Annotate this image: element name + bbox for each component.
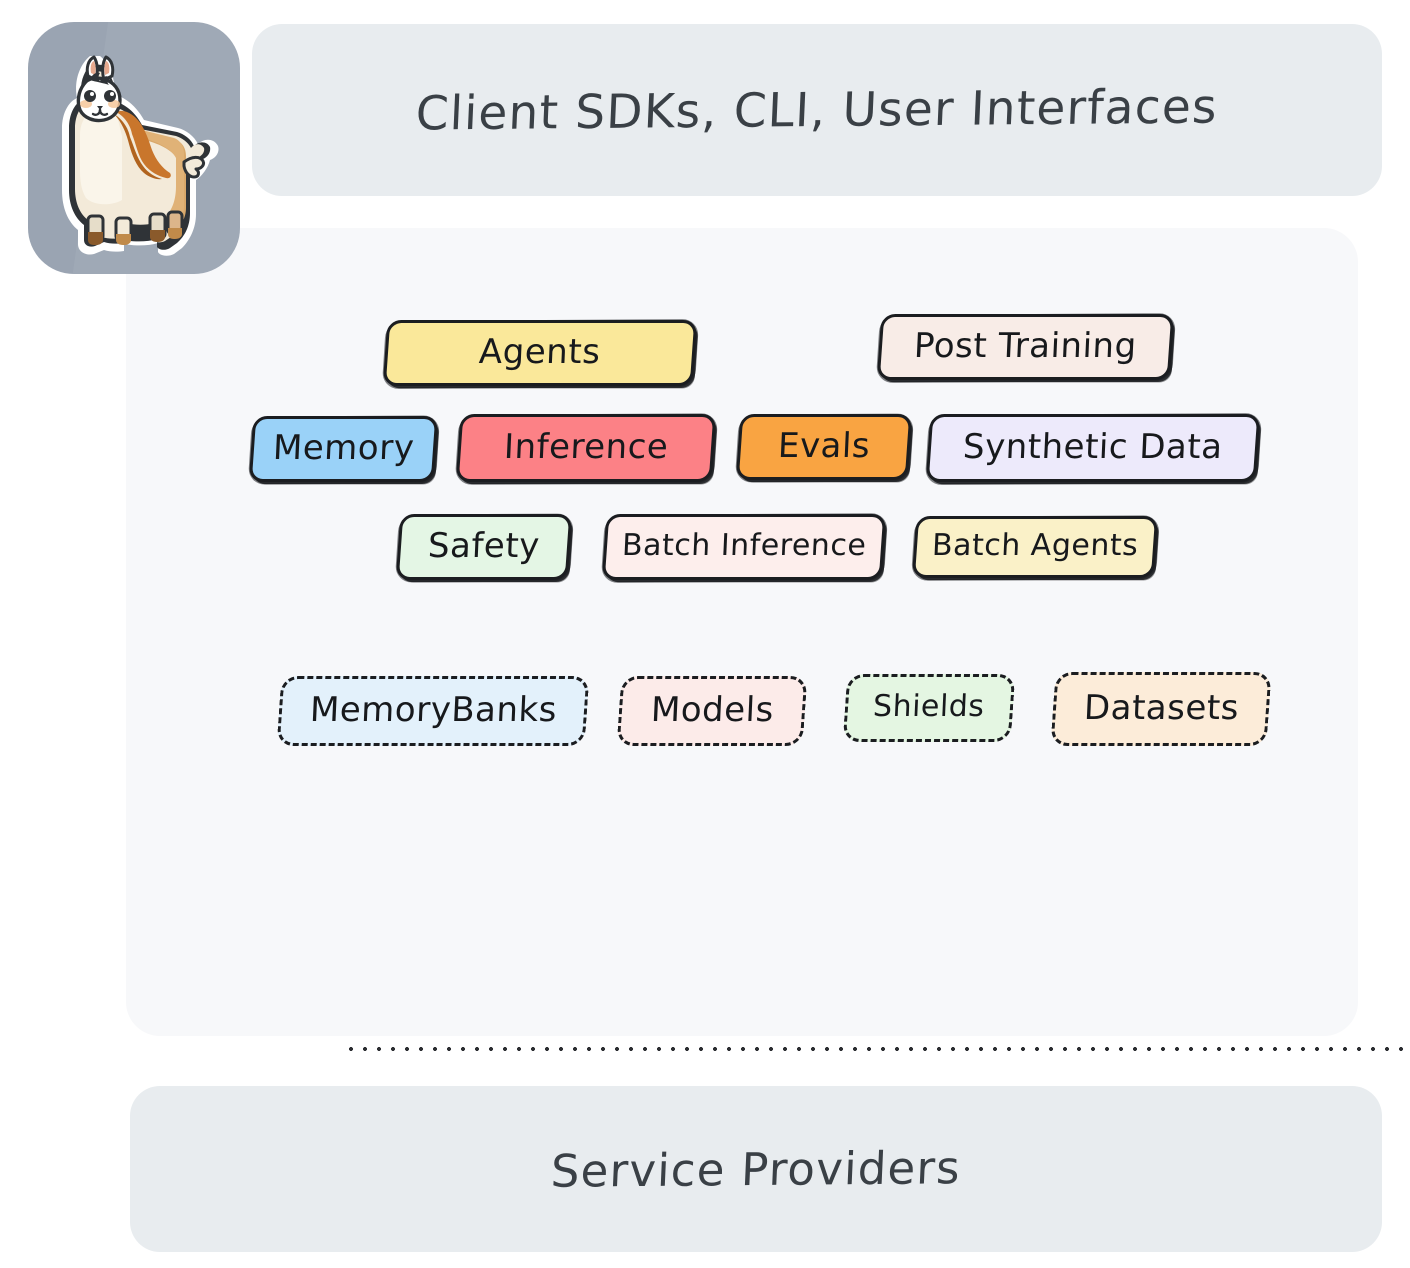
resource-chip-memory-banks[interactable]: MemoryBanks — [277, 676, 590, 746]
api-chip-memory[interactable]: Memory — [249, 416, 439, 482]
llama-logo-tile — [28, 22, 240, 274]
diagram-canvas: Client SDKs, CLI, User Interfaces Agents… — [0, 0, 1410, 1268]
api-chip-post-training-label: Post Training — [913, 326, 1137, 369]
api-chip-inference-label: Inference — [503, 427, 669, 470]
api-chip-agents[interactable]: Agents — [383, 320, 698, 386]
api-chip-batch-inference-label: Batch Inference — [621, 528, 867, 566]
api-chip-safety-label: Safety — [427, 526, 541, 569]
resource-chip-models-label: Models — [650, 690, 775, 733]
resource-chip-shields[interactable]: Shields — [843, 674, 1016, 742]
api-chip-agents-label: Agents — [478, 332, 601, 375]
api-chip-batch-inference[interactable]: Batch Inference — [602, 514, 887, 580]
resource-chip-memory-banks-label: MemoryBanks — [309, 690, 558, 733]
api-chip-synthetic-data-label: Synthetic Data — [962, 427, 1223, 470]
resource-chip-datasets-label: Datasets — [1083, 688, 1240, 731]
resource-chip-shields-label: Shields — [872, 689, 985, 727]
service-providers-label: Service Providers — [550, 1141, 962, 1198]
resource-chip-datasets[interactable]: Datasets — [1050, 672, 1271, 746]
api-chip-inference[interactable]: Inference — [456, 414, 717, 482]
api-chip-synthetic-data[interactable]: Synthetic Data — [926, 414, 1261, 482]
api-chip-safety[interactable]: Safety — [396, 514, 573, 580]
api-chip-post-training[interactable]: Post Training — [877, 314, 1175, 380]
api-chip-batch-agents[interactable]: Batch Agents — [912, 516, 1158, 578]
llama-stack-panel: AgentsPost TrainingMemoryInferenceEvalsS… — [126, 228, 1358, 1036]
client-layer-banner: Client SDKs, CLI, User Interfaces — [252, 24, 1382, 196]
api-chip-memory-label: Memory — [272, 428, 415, 471]
api-chip-evals-label: Evals — [777, 426, 871, 469]
api-chip-evals[interactable]: Evals — [736, 414, 913, 480]
api-chip-batch-agents-label: Batch Agents — [931, 528, 1139, 566]
service-providers-banner: Service Providers — [130, 1086, 1382, 1252]
dotted-divider — [344, 1046, 1410, 1052]
client-layer-label: Client SDKs, CLI, User Interfaces — [415, 79, 1219, 141]
resource-chip-models[interactable]: Models — [617, 676, 808, 746]
